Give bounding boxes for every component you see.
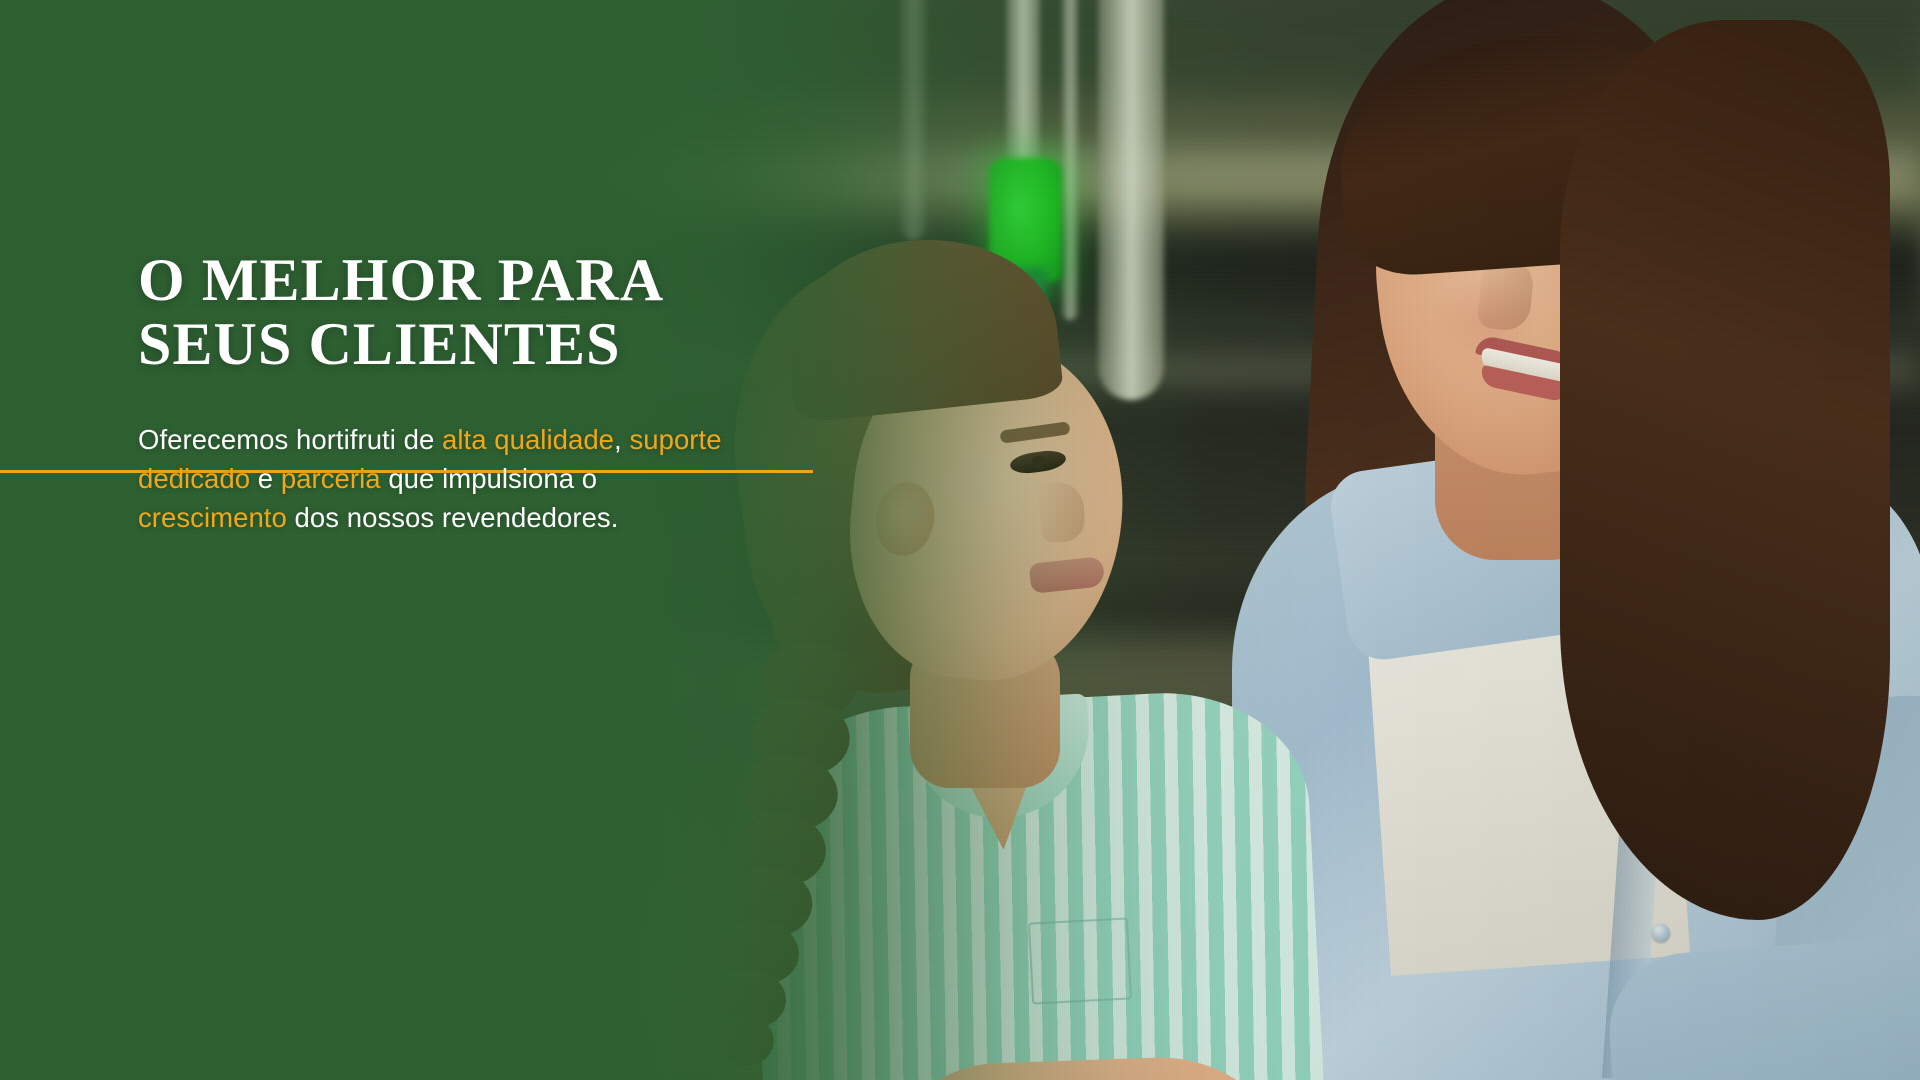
page-title: O MELHOR PARA SEUS CLIENTES (138, 248, 758, 376)
headline-line-2: SEUS CLIENTES (138, 312, 758, 376)
hero-banner: O MELHOR PARA SEUS CLIENTES Oferecemos h… (0, 0, 1920, 1080)
hero-text-block: O MELHOR PARA SEUS CLIENTES Oferecemos h… (138, 248, 758, 494)
blurb-text-3: e (250, 463, 281, 494)
blurb-text-1: Oferecemos hortifruti de (138, 424, 442, 455)
blurb-highlight-crescimento: crescimento (138, 502, 287, 533)
green-color-tint (0, 0, 1920, 1080)
blurb-text-4: que impulsiona o (381, 463, 598, 494)
blurb-highlight-parceria: parceria (281, 463, 381, 494)
blurb-text-2: , (614, 424, 629, 455)
blurb-text-5: dos nossos revendedores. (287, 502, 619, 533)
hero-description: Oferecemos hortifruti de alta qualidade,… (138, 420, 728, 537)
headline-line-1: O MELHOR PARA (138, 248, 758, 312)
blurb-highlight-alta-qualidade: alta qualidade (442, 424, 614, 455)
